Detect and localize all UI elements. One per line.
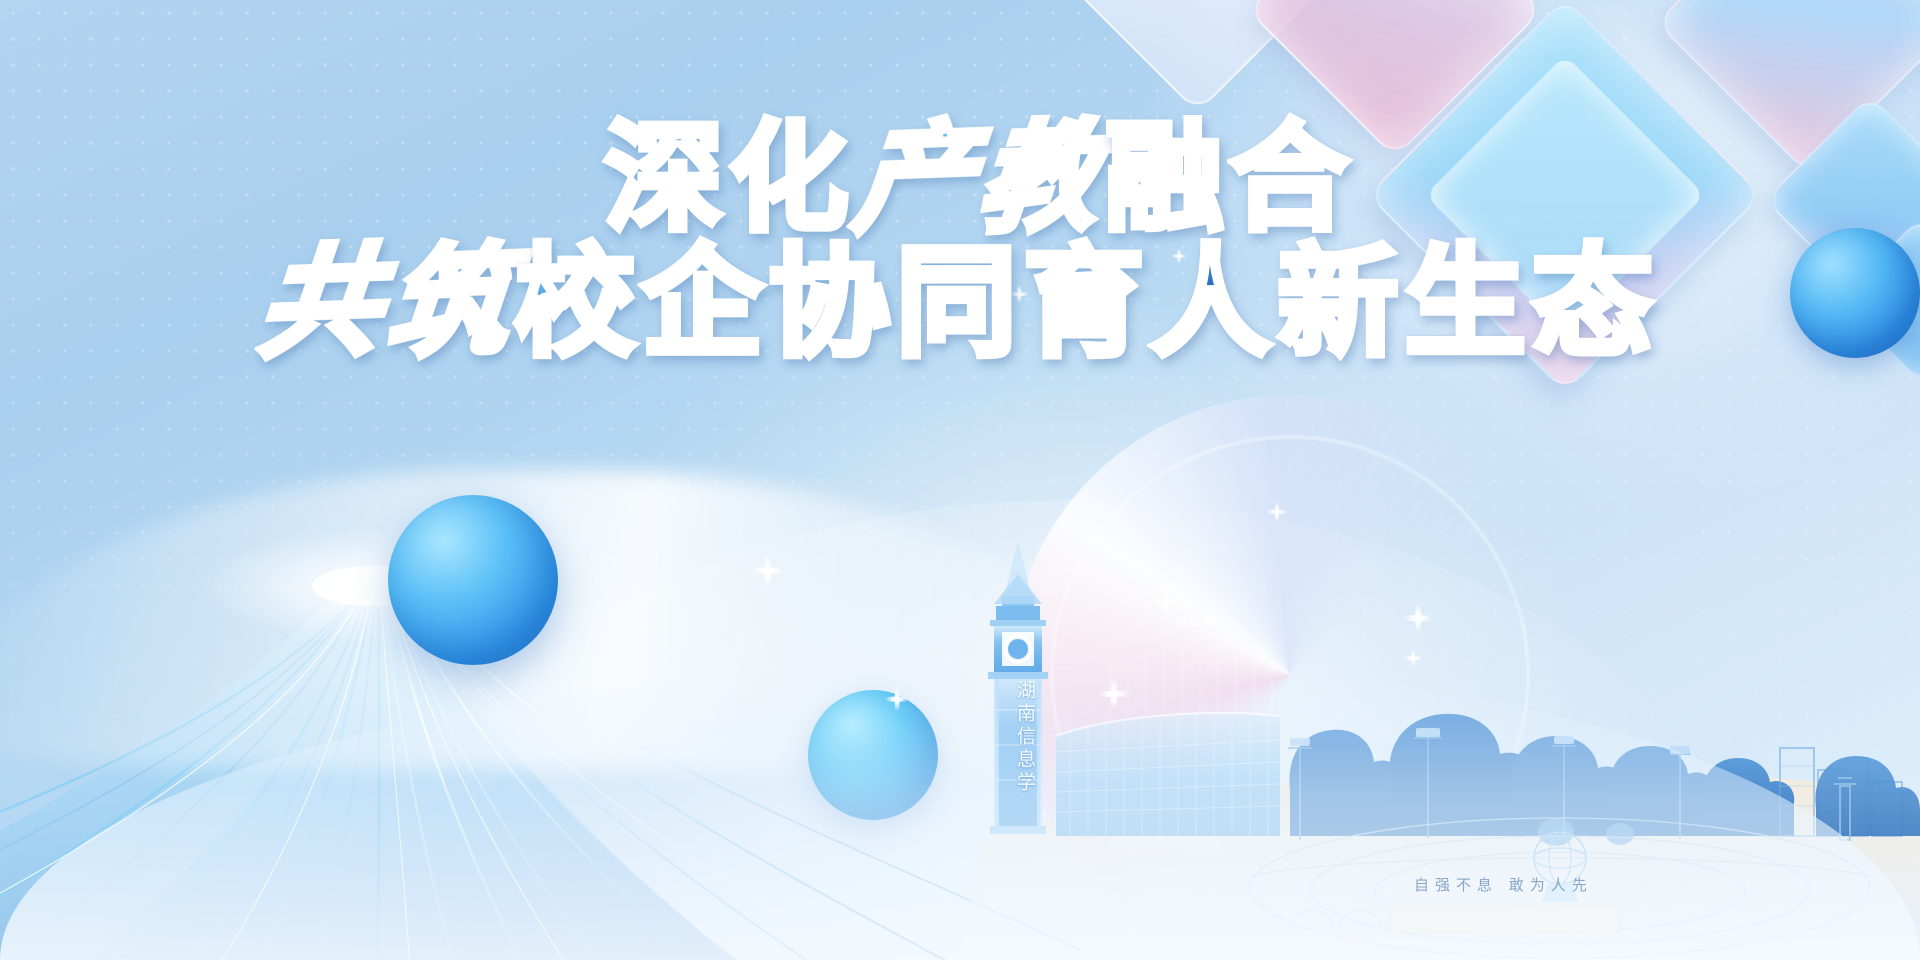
sphere-right [1790, 228, 1920, 358]
sphere-mid [388, 495, 558, 665]
campus-illustration [960, 540, 1920, 960]
sphere-bottom [808, 690, 938, 820]
clock-tower-label: 湖南信息学 [1005, 680, 1039, 795]
campus-motto: 自强不息 敢为人先 [1414, 874, 1593, 895]
event-banner: 湖南信息学 竞技场 自强不息 敢为人先 深化产教融合 共筑校企协同育人新生态 [0, 0, 1920, 960]
